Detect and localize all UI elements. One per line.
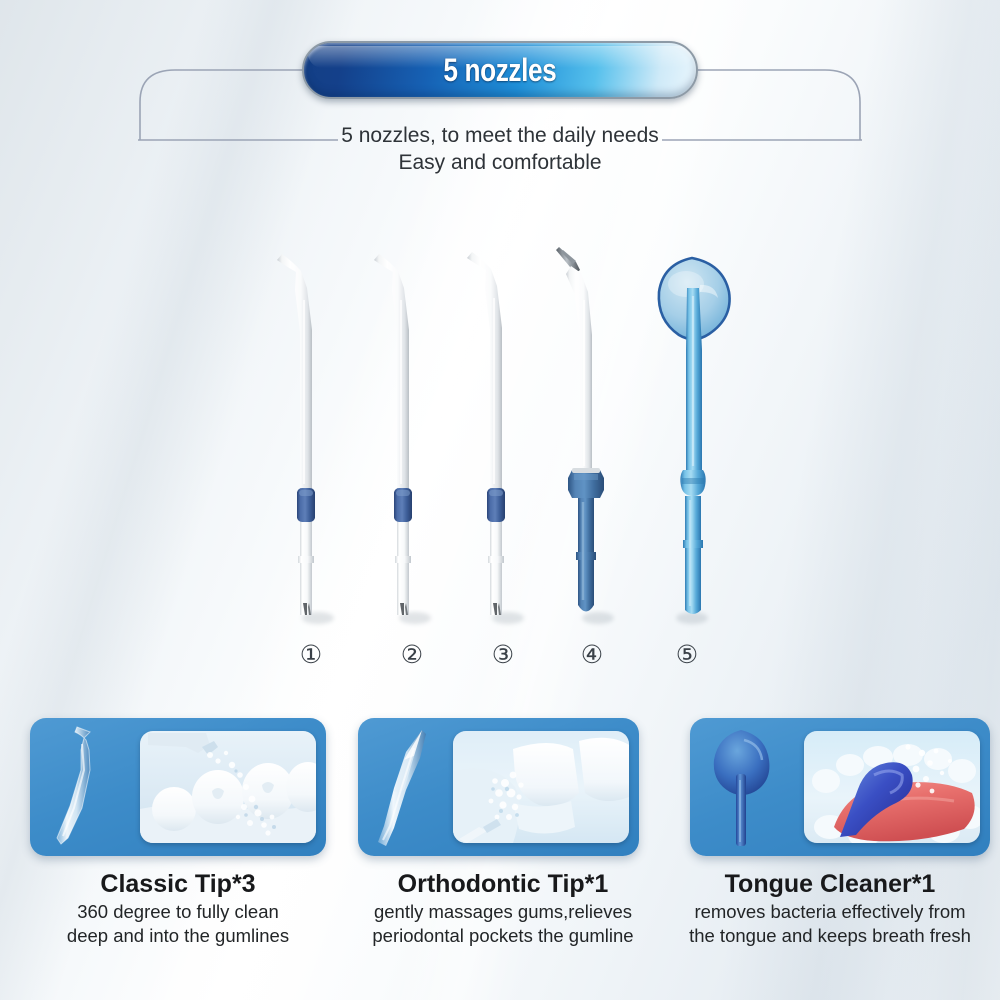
product-infographic-page: 5 nozzles 5 nozzles, to meet the daily n… [0, 0, 1000, 1000]
subtitle-block: 5 nozzles, to meet the daily needs Easy … [0, 122, 1000, 176]
page-title-banner: 5 nozzles [302, 41, 698, 99]
caption-desc-line-1: removes bacteria effectively from [660, 900, 1000, 924]
tongue-cleaner-icon [696, 726, 786, 848]
caption-tongue-cleaner: Tongue Cleaner*1 removes bacteria effect… [660, 868, 1000, 948]
classic-tip-photo [140, 731, 316, 843]
caption-desc-line-1: 360 degree to fully clean [8, 900, 348, 924]
feature-card-tongue-cleaner[interactable] [690, 718, 990, 856]
subtitle-line-2: Easy and comfortable [0, 149, 1000, 176]
nozzle-3-classic-tip [467, 252, 505, 615]
nozzle-number-5: ⑤ [672, 640, 702, 670]
caption-desc-line-1: gently massages gums,relieves [333, 900, 673, 924]
caption-title: Classic Tip*3 [8, 868, 348, 900]
nozzle-lineup [0, 240, 1000, 680]
orthodontic-tip-photo [453, 731, 629, 843]
nozzle-number-2: ② [397, 640, 427, 670]
subtitle-line-1: 5 nozzles, to meet the daily needs [0, 122, 1000, 149]
caption-desc-line-2: periodontal pockets the gumline [333, 924, 673, 948]
nozzle-number-3: ③ [488, 640, 518, 670]
feature-card-orthodontic-tip[interactable] [358, 718, 639, 856]
nozzle-1-classic-tip [277, 254, 315, 615]
nozzle-4-orthodontic-tip [556, 247, 604, 612]
caption-classic-tip: Classic Tip*3 360 degree to fully clean … [8, 868, 348, 948]
caption-orthodontic-tip: Orthodontic Tip*1 gently massages gums,r… [333, 868, 673, 948]
nozzle-number-4: ④ [577, 640, 607, 670]
nozzle-number-1: ① [296, 640, 326, 670]
caption-desc-line-2: deep and into the gumlines [8, 924, 348, 948]
classic-tip-icon [36, 726, 126, 848]
nozzle-5-tongue-cleaner [659, 258, 730, 614]
caption-desc-line-2: the tongue and keeps breath fresh [660, 924, 1000, 948]
feature-card-classic-tip[interactable] [30, 718, 326, 856]
caption-title: Orthodontic Tip*1 [333, 868, 673, 900]
orthodontic-tip-icon [364, 726, 454, 848]
nozzle-2-classic-tip [374, 254, 412, 615]
caption-title: Tongue Cleaner*1 [660, 868, 1000, 900]
tongue-cleaner-photo [804, 731, 980, 843]
page-title: 5 nozzles [444, 52, 557, 89]
